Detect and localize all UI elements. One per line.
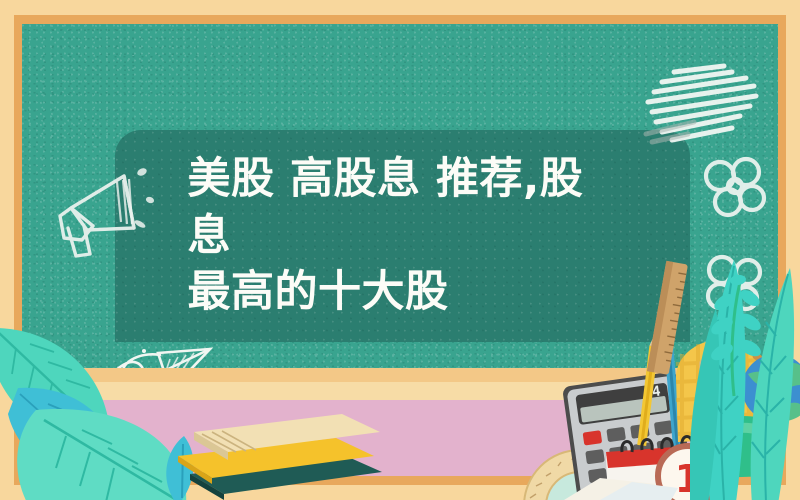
page-title-line-1: 美股 高股息 推荐,股息 [188,151,618,265]
stacked-books [150,400,410,500]
banner-image: 美股 高股息 推荐,股息 最高的十大股 [0,0,800,500]
paper-sheets-icon [560,472,680,500]
page-title-line-2: 最高的十大股 [188,264,618,321]
title-block: 美股 高股息 推荐,股息 最高的十大股 [115,130,690,342]
page-title: 美股 高股息 推荐,股息 最高的十大股 [188,151,618,321]
leaf-sprig-icon [700,268,770,403]
